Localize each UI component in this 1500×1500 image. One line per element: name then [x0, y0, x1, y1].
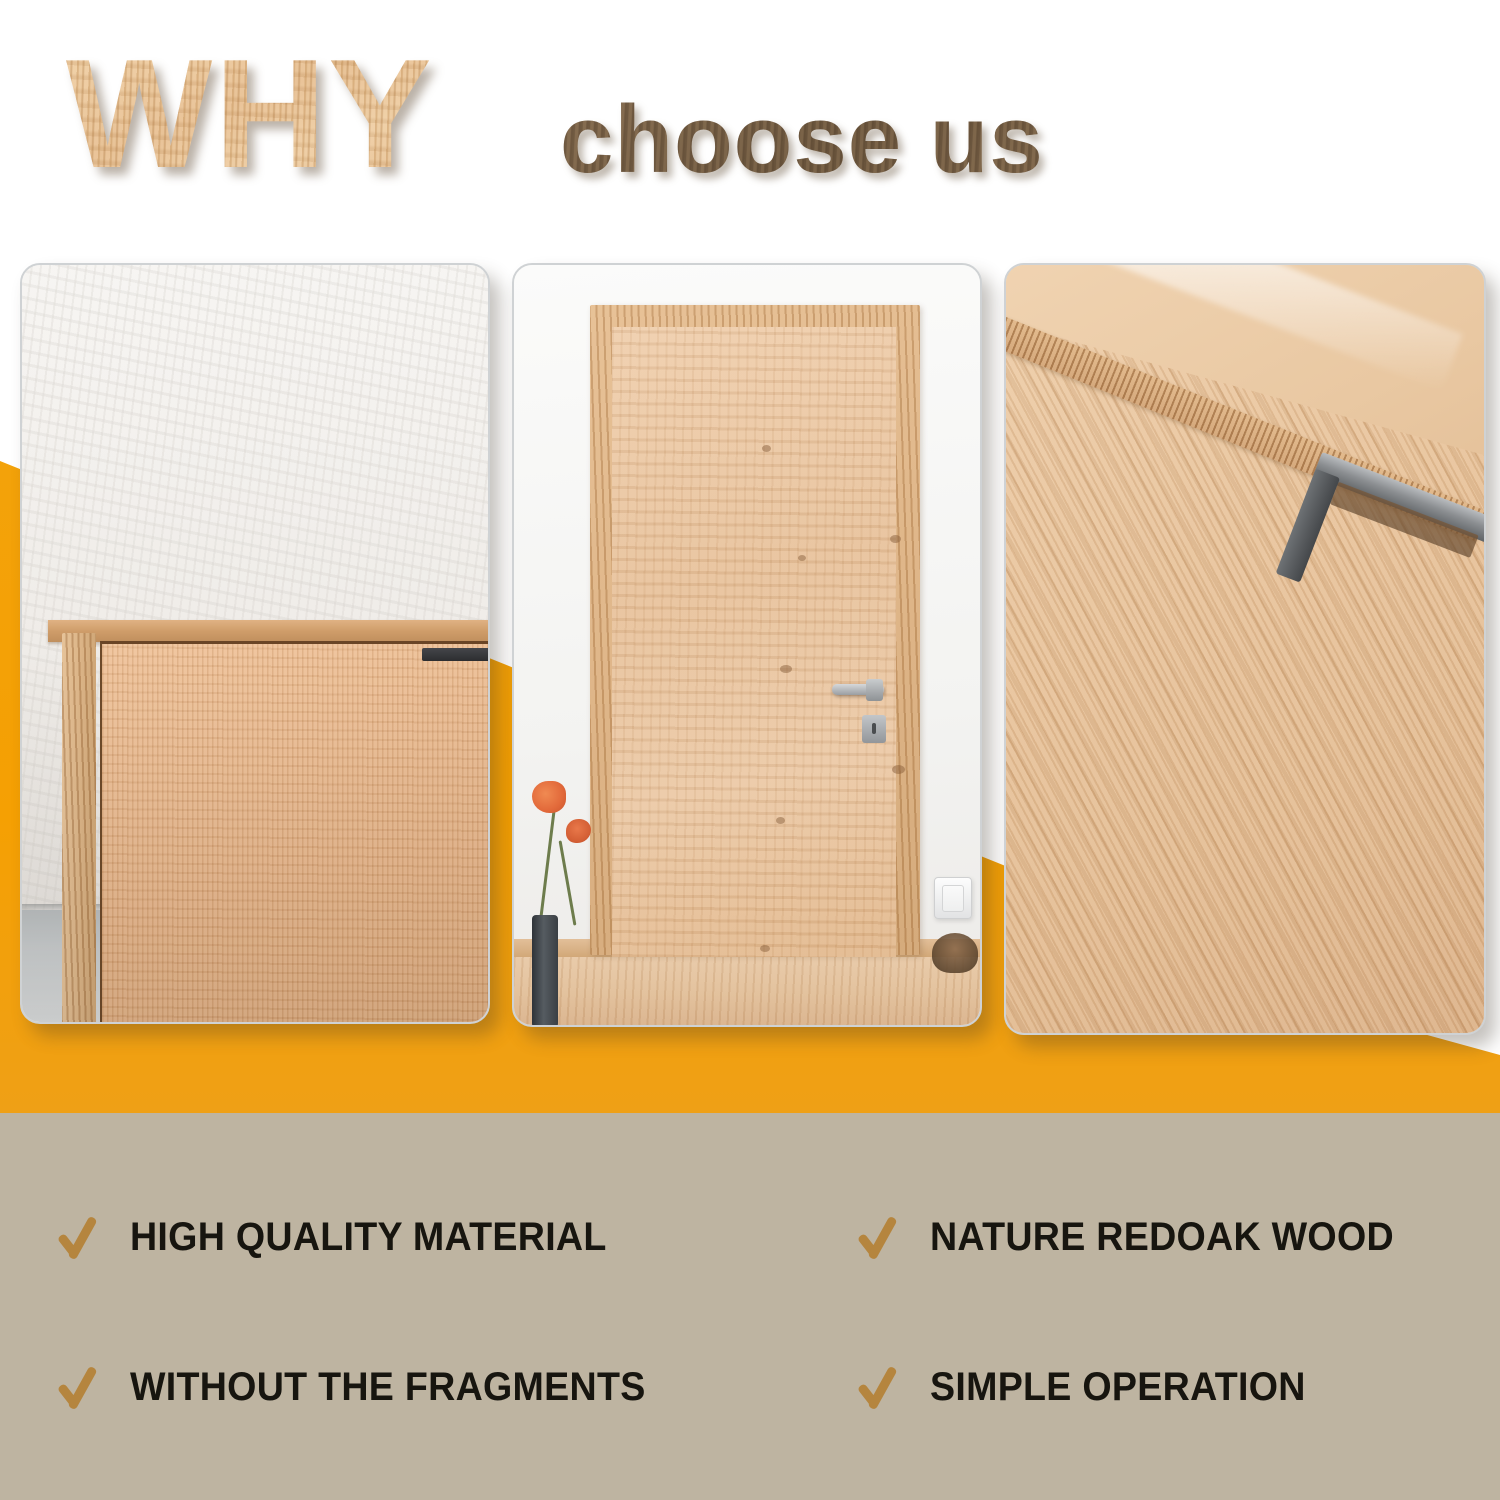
- check-icon: [862, 1361, 908, 1413]
- feature-label: SIMPLE OPERATION: [930, 1365, 1306, 1410]
- light-switch: [934, 877, 972, 919]
- check-icon: [62, 1361, 108, 1413]
- floor-vase: [532, 915, 558, 1027]
- photo-vignette: [22, 265, 488, 1022]
- wood-knot: [762, 445, 771, 452]
- why-choose-us-infographic: WHY choose us: [0, 0, 1500, 1500]
- feature-item-simple-operation: SIMPLE OPERATION: [862, 1361, 1330, 1413]
- wood-knot: [892, 765, 905, 774]
- door-handle-rosette: [866, 679, 883, 701]
- feature-item-without-the-fragments: WITHOUT THE FRAGMENTS: [62, 1361, 678, 1413]
- feature-label: WITHOUT THE FRAGMENTS: [130, 1365, 646, 1410]
- wood-floor: [514, 953, 980, 1025]
- wood-knot: [890, 535, 901, 543]
- floor-object: [932, 933, 978, 973]
- door-leaf: [612, 327, 896, 957]
- wood-knot: [798, 555, 806, 561]
- photo-gallery: [0, 0, 1500, 1100]
- wood-knot: [776, 817, 785, 824]
- gallery-card-door[interactable]: [512, 263, 982, 1027]
- check-icon: [862, 1211, 908, 1263]
- wood-knot: [780, 665, 792, 673]
- wood-knot: [760, 945, 770, 952]
- door-lock-escutcheon: [862, 715, 886, 743]
- poppy-flower: [532, 781, 566, 813]
- gallery-card-cabinet[interactable]: [20, 263, 490, 1024]
- gallery-card-edge-banding[interactable]: [1004, 263, 1486, 1035]
- features-list: HIGH QUALITY MATERIAL NATURE REDOAK WOOD…: [0, 1113, 1500, 1500]
- feature-item-high-quality-material: HIGH QUALITY MATERIAL: [62, 1211, 637, 1263]
- feature-label: NATURE REDOAK WOOD: [930, 1215, 1394, 1260]
- check-icon: [62, 1211, 108, 1263]
- feature-label: HIGH QUALITY MATERIAL: [130, 1215, 607, 1260]
- feature-item-nature-redoak-wood: NATURE REDOAK WOOD: [862, 1211, 1424, 1263]
